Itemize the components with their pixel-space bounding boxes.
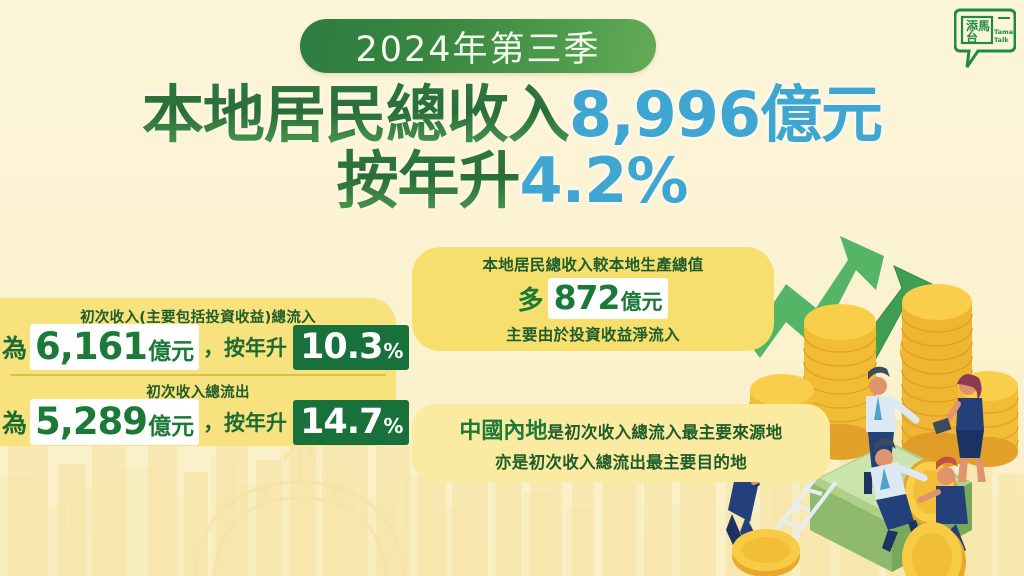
outflow-amount: 5,289	[35, 400, 147, 443]
inflow-amount-chip: 6,161億元	[30, 324, 199, 370]
outflow-prefix: 為	[2, 404, 27, 440]
headline-line2-blue: 4.2%	[520, 144, 688, 217]
gni-vs-gdp-amount: 872	[554, 278, 620, 317]
coin-icon-floating-2	[732, 529, 800, 576]
outflow-amount-chip: 5,289億元	[30, 399, 199, 445]
gni-vs-gdp-line1: 本地居民總收入較本地生產總值	[482, 253, 703, 275]
inflow-change-chip: 10.3%	[293, 325, 409, 370]
primary-income-panel: 初次收入(主要包括投資收益)總流入 為 6,161億元 ，按年升 10.3% 初…	[0, 298, 396, 446]
mainland-highlight: 中國內地	[459, 413, 547, 445]
svg-text:Talk: Talk	[994, 36, 1009, 44]
panel-divider	[10, 374, 386, 376]
headline-line2-green: 按年升	[337, 144, 520, 217]
mainland-line1-rest: 是初次收入總流入最主要來源地	[547, 419, 782, 443]
inflow-prefix: 為	[2, 329, 27, 365]
svg-text:Tamar: Tamar	[994, 28, 1016, 36]
inflow-middle-label: ，按年升	[203, 332, 287, 362]
outflow-middle-label: ，按年升	[203, 407, 287, 437]
quarter-badge: 2024年第三季	[300, 19, 656, 73]
mainland-line-1: 中國內地是初次收入總流入最主要來源地	[459, 413, 782, 445]
inflow-percent-sign: %	[383, 339, 403, 363]
gni-vs-gdp-prefix: 多	[518, 280, 544, 317]
outflow-percent-sign: %	[383, 414, 403, 438]
gni-vs-gdp-unit: 億元	[620, 286, 662, 316]
gni-vs-gdp-line3: 主要由於投資收益淨流入	[506, 323, 680, 345]
tamar-talk-logo[interactable]: 添馬 台 Tamar Talk	[954, 6, 1016, 70]
mainland-line2: 亦是初次收入總流出最主要目的地	[495, 449, 747, 473]
outflow-change: 14.7	[300, 402, 382, 442]
gni-vs-gdp-amount-chip: 872億元	[548, 278, 669, 319]
inflow-change: 10.3	[300, 327, 382, 367]
quarter-badge-label: 2024年第三季	[355, 21, 600, 72]
outflow-row: 為 5,289億元 ，按年升 14.7%	[0, 399, 396, 445]
gni-vs-gdp-amount-row: 多 872億元	[518, 278, 669, 319]
mainland-callout: 中國內地是初次收入總流入最主要來源地 亦是初次收入總流出最主要目的地	[412, 404, 830, 482]
headline-line1-green: 本地居民總收入	[142, 78, 569, 151]
svg-text:台: 台	[966, 30, 978, 45]
infographic-canvas: 添馬 台 Tamar Talk 2024年第三季 本地居民總收入8,996億元 …	[0, 0, 1024, 576]
mainland-line-2: 亦是初次收入總流出最主要目的地	[495, 449, 747, 473]
gni-vs-gdp-callout: 本地居民總收入較本地生產總值 多 872億元 主要由於投資收益淨流入	[412, 247, 774, 351]
inflow-amount: 6,161	[35, 325, 147, 368]
inflow-row: 為 6,161億元 ，按年升 10.3%	[0, 324, 396, 370]
inflow-unit: 億元	[148, 332, 194, 366]
outflow-unit: 億元	[148, 407, 194, 441]
outflow-change-chip: 14.7%	[293, 400, 409, 445]
